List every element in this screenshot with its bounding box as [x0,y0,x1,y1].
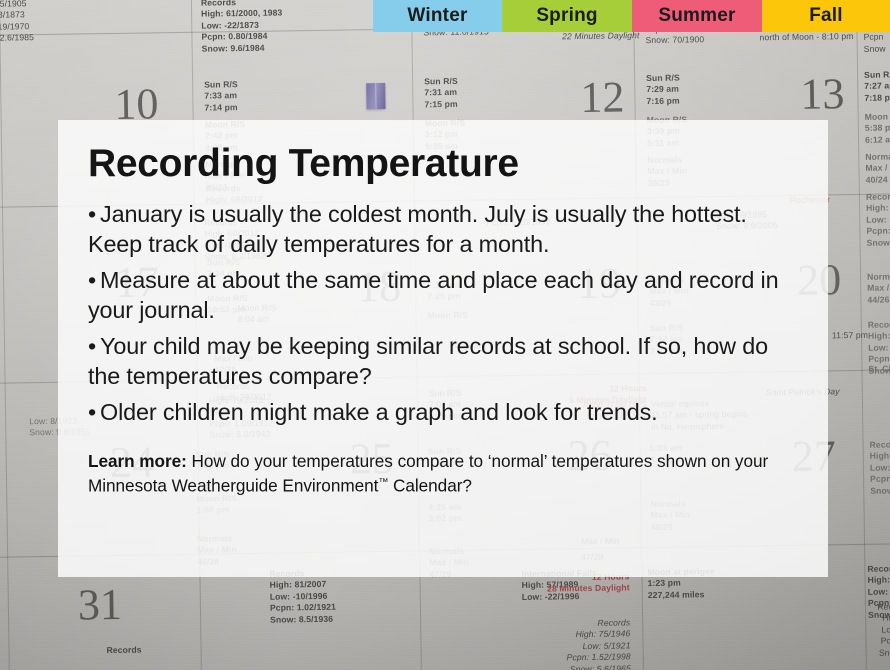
calendar-cell: Sun R/S 7:27 am 7:18 pm [864,69,890,104]
calendar-cell: Records High: 8 Low: - Pcpn: Snow: [866,191,890,249]
bullet-item: •January is usually the coldest month. J… [88,200,802,259]
calendar-cell: Normals Max / Min 44/26 [867,271,890,306]
bullet-list: •January is usually the coldest month. J… [88,200,802,428]
bullet-marker: • [88,201,96,227]
bullet-marker: • [88,399,96,425]
calendar-cell: Records High: 75/1946 Low: 5/1921 Pcpn: … [462,617,631,670]
calendar-cell: Moon R/S 5:38 pm 6:12 am [865,111,890,146]
bullet-marker: • [88,333,96,359]
bullet-marker: • [88,267,96,293]
calendar-cell: h: 65/1905 : -13/1873 : 1.19/1970 v: 12.… [0,0,34,44]
calendar-cell: St. Cloud [868,363,890,375]
calendar-cell: Sun R/S 7:29 am 7:16 pm [646,73,680,108]
bullet-text: Older children might make a graph and lo… [100,399,657,425]
calendar-day-number: 13 [800,72,845,117]
calendar-cell: Records High: 7 Low: -1 Pcpn: 1 Snow: 4 [730,601,890,661]
calendar-cell: 11:57 pm [832,330,868,342]
learn-more-block: Learn more: How do your temperatures com… [88,450,802,498]
learn-more-label: Learn more: [88,451,187,471]
calendar-cell: Records High: 78/1939 Low: -5/1940 Pcpn:… [870,439,890,497]
calendar-cell: Sun R/S 7:31 am 7:15 pm [424,76,458,111]
bullet-text: Measure at about the same time and place… [88,267,778,323]
bullet-item: •Your child may be keeping similar recor… [88,332,802,391]
page-title: Recording Temperature [88,142,802,186]
learn-more-text-end: Calendar? [388,476,472,496]
tab-summer-label: Summer [658,5,735,27]
calendar-cell: Records High: 7 Low: -1 Pcpn: 1 Snow: 4 [867,563,890,621]
tab-fall[interactable]: Fall [762,0,890,32]
tab-fall-label: Fall [809,5,843,27]
tab-spring[interactable]: Spring [502,0,632,32]
bullet-item: •Measure at about the same time and plac… [88,266,802,325]
tab-winter-label: Winter [407,5,467,27]
season-tab-bar: Winter Spring Summer Fall [373,0,890,32]
bullet-text: January is usually the coldest month. Ju… [88,201,747,257]
slide-stage: h: 65/1905 : -13/1873 : 1.19/1970 v: 12.… [0,0,890,670]
calendar-cell: Records [106,645,141,657]
calendar-sticker [366,83,385,109]
calendar-cell: Normals Max / Min 40/24 [865,151,890,186]
calendar-cell: Records High: 61/2000, 1983 Low: -22/187… [201,0,283,55]
tab-spring-label: Spring [536,5,597,27]
tab-summer[interactable]: Summer [632,0,762,32]
trademark-symbol: ™ [378,477,388,488]
bullet-text: Your child may be keeping similar record… [88,333,768,389]
bullet-item: •Older children might make a graph and l… [88,398,802,428]
content-panel: Recording Temperature •January is usuall… [58,120,828,577]
calendar-day-number: 12 [580,75,625,120]
tab-winter[interactable]: Winter [373,0,502,32]
calendar-cell: Sun R/S 7:33 am 7:14 pm [204,79,238,114]
calendar-day-number: 31 [78,583,123,628]
